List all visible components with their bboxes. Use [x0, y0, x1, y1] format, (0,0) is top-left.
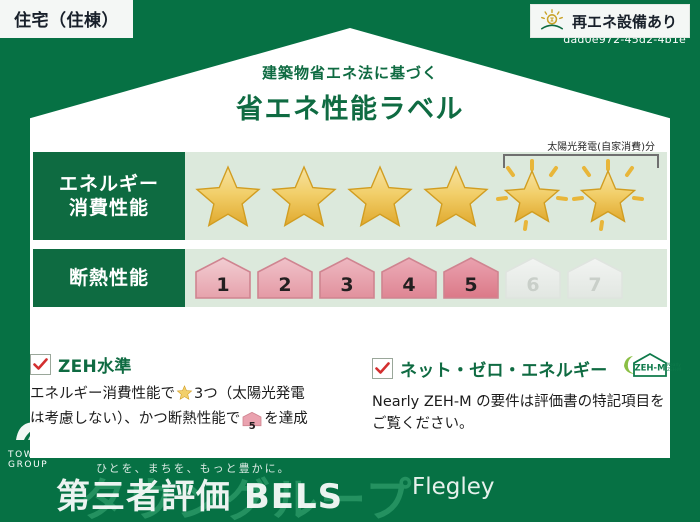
zeh-body-part1: エネルギー消費性能で	[30, 386, 175, 402]
net-zero-body: Nearly ZEH-M の要件は評価書の特記項目をご覧ください。	[372, 392, 670, 436]
insulation-performance-label-box: 断熱性能	[33, 249, 185, 307]
zeh-body-star-count: 3つ（太陽光発電	[194, 386, 305, 402]
checkmark-icon	[30, 354, 51, 375]
sun-icon	[539, 9, 565, 33]
insulation-level-scale: 1 2 3	[193, 255, 625, 301]
insulation-label: 断熱性能	[69, 266, 149, 290]
net-zero-title: ネット・ゼロ・エネルギー	[400, 356, 608, 381]
energy-label-line2: 消費性能	[69, 196, 149, 220]
inline-house-icon: 5	[242, 411, 262, 435]
inline-star-icon	[176, 389, 193, 405]
insulation-level-6-number: 6	[503, 274, 563, 296]
svg-text:ZEH-M: ZEH-M	[667, 367, 681, 372]
insulation-performance-row: 断熱性能	[33, 249, 667, 307]
solar-annotation-text: 太陽光発電(自家消費)分	[547, 138, 655, 153]
star-solar	[571, 159, 645, 233]
insulation-level-7: 7	[565, 255, 625, 301]
svg-text:ZEH-M: ZEH-M	[634, 364, 665, 374]
energy-performance-row: エネルギー 消費性能 太陽光発電(自家消費)分	[33, 152, 667, 240]
insulation-level-3: 3	[317, 255, 377, 301]
zeh-body-part3: を達成	[264, 411, 308, 427]
insulation-level-5: 5	[441, 255, 501, 301]
net-zero-heading: ネット・ゼロ・エネルギー ZEH-M Nearly ZEH-M	[372, 352, 670, 385]
insulation-level-7-number: 7	[565, 274, 625, 296]
insulation-level-6: 6	[503, 255, 563, 301]
star-filled	[343, 159, 417, 233]
zeh-standard-note: ZEH水準 エネルギー消費性能で3つ（太陽光発電は考慮しない）、かつ断熱性能で5…	[30, 352, 350, 436]
net-zero-energy-note: ネット・ゼロ・エネルギー ZEH-M Nearly ZEH-M Nearly Z…	[350, 352, 670, 436]
checkmark-icon	[372, 358, 393, 379]
star-rating	[191, 159, 645, 233]
zeh-standard-title: ZEH水準	[58, 352, 132, 377]
insulation-level-4-number: 4	[379, 274, 439, 296]
zeh-standard-heading: ZEH水準	[30, 352, 350, 377]
energy-performance-label-box: エネルギー 消費性能	[33, 152, 185, 240]
energy-label-line1: エネルギー	[59, 172, 159, 196]
solar-bracket	[503, 154, 659, 168]
label-subtitle: 建築物省エネ法に基づく	[0, 62, 700, 83]
star-filled	[419, 159, 493, 233]
footer-bar	[0, 460, 700, 522]
renewable-equipment-badge: 再エネ設備あり	[530, 4, 690, 38]
label-title: 省エネ性能ラベル	[0, 87, 700, 126]
star-solar	[495, 159, 569, 233]
zeh-standard-body: エネルギー消費性能で3つ（太陽光発電は考慮しない）、かつ断熱性能で5を達成	[30, 384, 350, 435]
label-title-block: 建築物省エネ法に基づく 省エネ性能ラベル	[0, 62, 700, 126]
insulation-levels-area: 1 2 3	[185, 249, 667, 307]
metrics-section: エネルギー 消費性能 太陽光発電(自家消費)分	[33, 152, 667, 316]
insulation-level-4: 4	[379, 255, 439, 301]
star-filled	[267, 159, 341, 233]
footnotes-section: ZEH水準 エネルギー消費性能で3つ（太陽光発電は考慮しない）、かつ断熱性能で5…	[30, 352, 670, 436]
inline-house-value: 5	[242, 419, 262, 434]
insulation-level-2: 2	[255, 255, 315, 301]
energy-performance-label: 住宅（住棟） 再エネ設備あり 建築物省エネ法に基づく 省エネ性能ラベル	[0, 0, 700, 522]
zeh-body-part2: は考慮しない）、かつ断熱性能で	[30, 411, 240, 427]
building-type-tag: 住宅（住棟）	[0, 0, 133, 38]
star-filled	[191, 159, 265, 233]
renewable-badge-label: 再エネ設備あり	[572, 11, 677, 32]
insulation-level-5-number: 5	[441, 274, 501, 296]
insulation-level-2-number: 2	[255, 274, 315, 296]
insulation-level-1-number: 1	[193, 274, 253, 296]
insulation-level-1: 1	[193, 255, 253, 301]
insulation-level-3-number: 3	[317, 274, 377, 296]
energy-stars-area: 太陽光発電(自家消費)分	[185, 152, 667, 240]
zeh-m-logo: ZEH-M Nearly ZEH-M	[620, 352, 682, 385]
